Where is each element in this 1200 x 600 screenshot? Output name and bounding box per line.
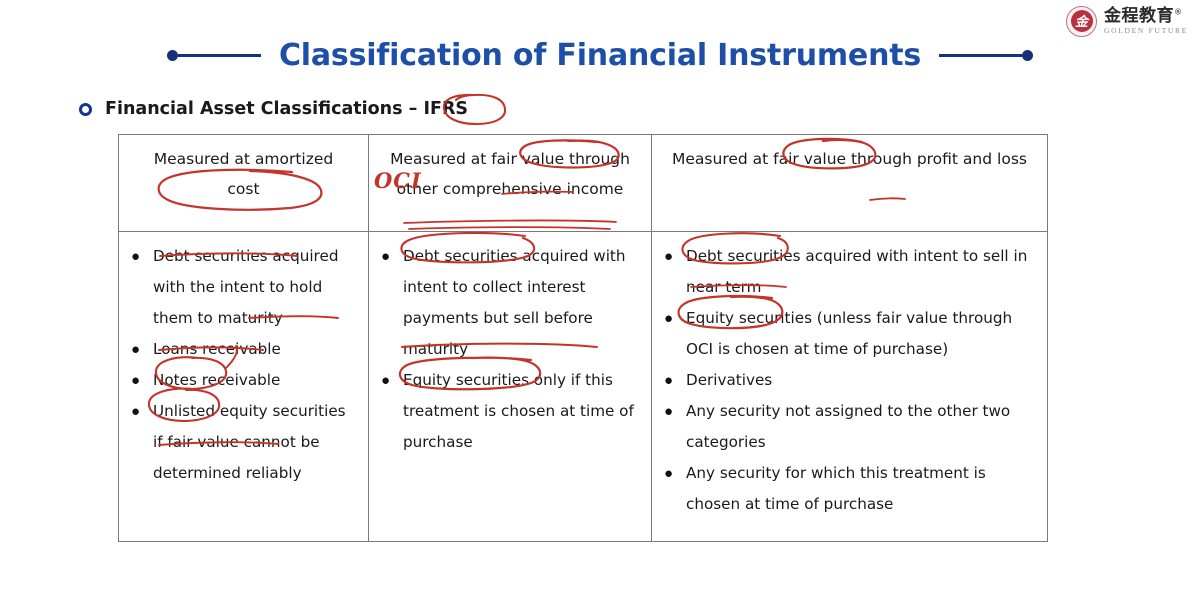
list-item: ● Loans receivable — [127, 334, 362, 365]
column-header-label: Measured at fair value through other com… — [385, 144, 635, 204]
list-item-label: Debt securities acquired with intent to … — [403, 241, 635, 365]
registered-trademark-icon: ® — [1174, 7, 1183, 16]
bullet-dot-icon: ● — [660, 365, 686, 396]
table-column-fvoci: Measured at fair value through other com… — [369, 135, 652, 541]
bullet-dot-icon: ● — [127, 334, 153, 365]
bullet-dot-icon: ● — [377, 241, 403, 272]
table-header-cell: Measured at fair value through other com… — [369, 135, 651, 232]
bullet-dot-icon: ● — [127, 241, 153, 272]
list-item: ● Equity securities only if this treatme… — [377, 365, 645, 458]
list-item: ● Debt securities acquired with the inte… — [127, 241, 362, 334]
brand-name-chinese-text: 金程教育 — [1104, 6, 1174, 26]
list-item-label: Debt securities acquired with the intent… — [153, 241, 353, 334]
table-column-amortized-cost: Measured at amortized cost ● Debt securi… — [119, 135, 369, 541]
list-item-label: Any security not assigned to the other t… — [686, 396, 1038, 458]
list-item-label: Derivatives — [686, 365, 1038, 396]
classification-table: Measured at amortized cost ● Debt securi… — [118, 134, 1048, 542]
title-rule-right-dot-icon — [1022, 50, 1033, 61]
bullet-list: ● Debt securities acquired with the inte… — [127, 241, 362, 489]
bullet-list: ● Debt securities acquired with intent t… — [377, 241, 645, 458]
list-item-label: Any security for which this treatment is… — [686, 458, 1038, 520]
list-item: ● Any security for which this treatment … — [660, 458, 1041, 520]
list-item-label: Equity securities only if this treatment… — [403, 365, 635, 458]
column-header-label: Measured at fair value through profit an… — [660, 144, 1039, 174]
table-column-fvpl: Measured at fair value through profit an… — [652, 135, 1047, 541]
title-rule-left-bar-icon — [178, 54, 261, 57]
table-body-cell: ● Debt securities acquired with the inte… — [119, 232, 368, 541]
list-item: ● Derivatives — [660, 365, 1041, 396]
list-item: ● Equity securities (unless fair value t… — [660, 303, 1041, 365]
bullet-dot-icon: ● — [660, 241, 686, 272]
list-item: ● Any security not assigned to the other… — [660, 396, 1041, 458]
brand-seal-icon: 金 — [1066, 6, 1097, 37]
bullet-list: ● Debt securities acquired with intent t… — [660, 241, 1041, 520]
subtitle-row: Financial Asset Classifications – IFRS — [79, 99, 468, 119]
table-header-cell: Measured at fair value through profit an… — [652, 135, 1047, 232]
page-title: Classification of Financial Instruments — [279, 38, 921, 73]
bullet-dot-icon: ● — [127, 396, 153, 427]
table-body-cell: ● Debt securities acquired with intent t… — [369, 232, 651, 541]
title-rule-left — [167, 49, 261, 63]
brand-name-chinese: 金程教育® — [1104, 8, 1188, 25]
bullet-dot-icon: ● — [127, 365, 153, 396]
list-item-label: Equity securities (unless fair value thr… — [686, 303, 1038, 365]
title-rule-left-dot-icon — [167, 50, 178, 61]
bullet-dot-icon: ● — [660, 458, 686, 489]
title-rule-right — [939, 49, 1033, 63]
table-header-cell: Measured at amortized cost — [119, 135, 368, 232]
brand-seal-glyph: 金 — [1071, 10, 1093, 32]
brand-name-english: GOLDEN FUTURE — [1104, 27, 1188, 35]
subtitle-ring-bullet-icon — [79, 103, 92, 116]
list-item-label: Unlisted equity securities if fair value… — [153, 396, 353, 489]
bullet-dot-icon: ● — [660, 303, 686, 334]
brand-logo: 金 金程教育® GOLDEN FUTURE — [1066, 4, 1188, 38]
bullet-dot-icon: ● — [377, 365, 403, 396]
list-item: ● Debt securities acquired with intent t… — [660, 241, 1041, 303]
list-item: ● Notes receivable — [127, 365, 362, 396]
slide-title-row: Classification of Financial Instruments — [0, 38, 1200, 73]
list-item-label: Notes receivable — [153, 365, 353, 396]
bullet-dot-icon: ● — [660, 396, 686, 427]
title-rule-right-bar-icon — [939, 54, 1022, 57]
subtitle-text: Financial Asset Classifications – IFRS — [105, 99, 468, 119]
table-body-cell: ● Debt securities acquired with intent t… — [652, 232, 1047, 541]
list-item-label: Loans receivable — [153, 334, 353, 365]
list-item-label: Debt securities acquired with intent to … — [686, 241, 1038, 303]
column-header-label: Measured at amortized cost — [149, 144, 339, 204]
list-item: ● Unlisted equity securities if fair val… — [127, 396, 362, 489]
list-item: ● Debt securities acquired with intent t… — [377, 241, 645, 365]
